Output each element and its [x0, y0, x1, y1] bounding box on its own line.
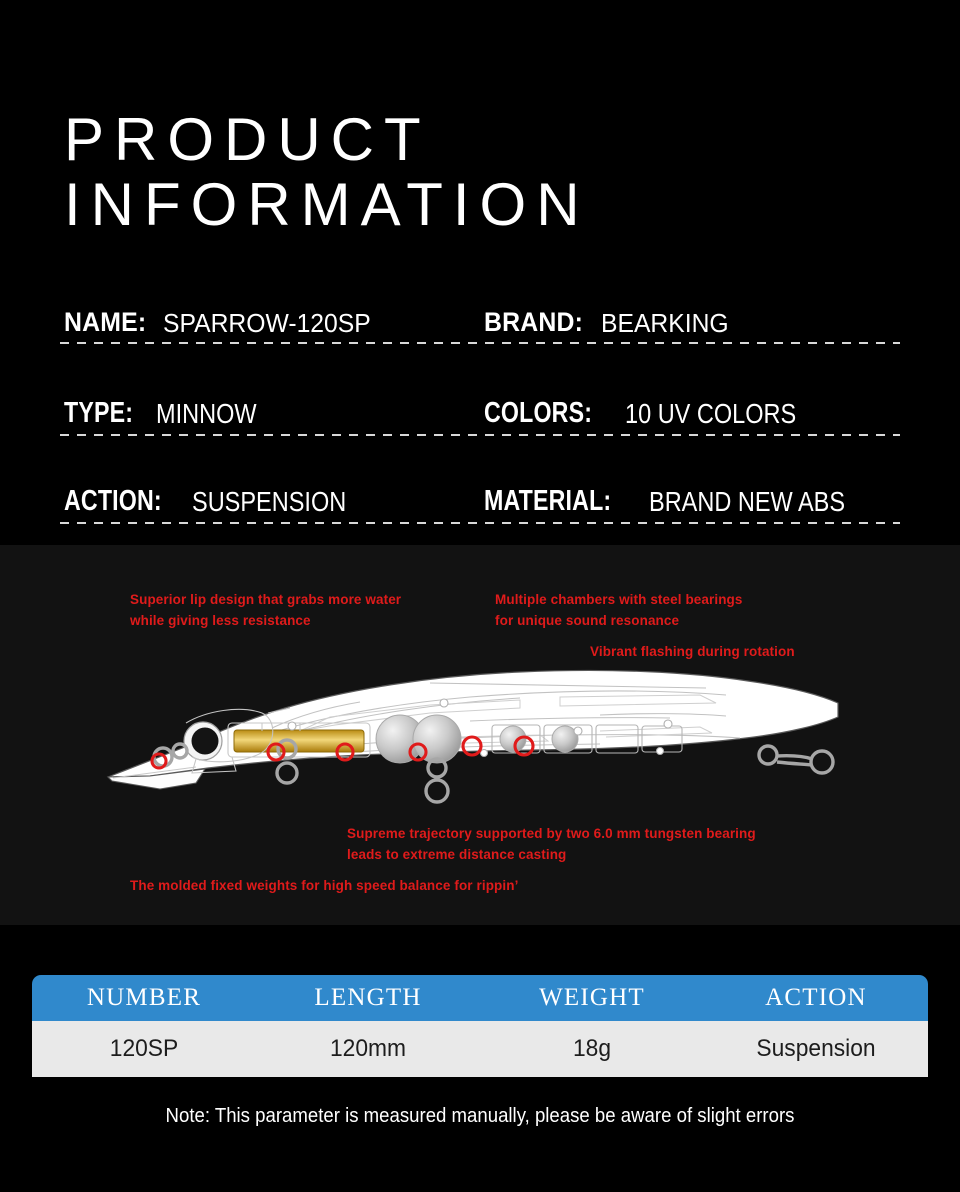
spec-label-brand: BRAND: [484, 309, 583, 336]
callout-trajectory-line-1: Supreme trajectory supported by two 6.0 … [347, 823, 756, 844]
spec-field-colors: COLORS: 10 UV COLORS [484, 382, 829, 428]
callout-trajectory: Supreme trajectory supported by two 6.0 … [347, 823, 756, 865]
callout-chambers: Multiple chambers with steel bearings fo… [495, 589, 743, 631]
callout-chambers-line-2: for unique sound resonance [495, 610, 743, 631]
table-header-row: NUMBER LENGTH WEIGHT ACTION [32, 975, 928, 1021]
spec-value-colors: 10 UV COLORS [625, 400, 796, 428]
callout-vibrant-flashing: Vibrant flashing during rotation [590, 641, 795, 662]
spec-value-brand: BEARKING [601, 310, 729, 336]
page-title-line-2: INFORMATION [64, 173, 924, 238]
spec-label-colors: COLORS: [484, 399, 592, 428]
spec-value-type: MINNOW [156, 400, 257, 428]
table-header-action: ACTION [704, 984, 928, 1012]
callout-lip-design: Superior lip design that grabs more wate… [130, 589, 401, 631]
spec-field-material: MATERIAL: BRAND NEW ABS [484, 470, 883, 516]
spec-field-name: NAME: SPARROW-120SP [64, 290, 381, 336]
table-cell-weight: 18g [486, 1035, 699, 1063]
spec-value-action: SUSPENSION [192, 488, 346, 516]
page-title-line-1: PRODUCT [64, 108, 924, 173]
page-title: PRODUCT INFORMATION [64, 108, 924, 238]
callout-lip-line-2: while giving less resistance [130, 610, 401, 631]
spec-row-name-brand: NAME: SPARROW-120SP BRAND: BEARKING [60, 290, 900, 350]
table-cell-number: 120SP [38, 1035, 251, 1063]
spec-label-name: NAME: [64, 309, 146, 336]
spec-label-action: ACTION: [64, 487, 162, 516]
spec-row-type-colors: TYPE: MINNOW COLORS: 10 UV COLORS [60, 382, 900, 442]
spec-divider-1 [60, 342, 900, 344]
lure-diagram-section: Superior lip design that grabs more wate… [0, 545, 960, 925]
parameter-table-section: NUMBER LENGTH WEIGHT ACTION 120SP 120mm … [0, 925, 960, 1192]
product-information-section: PRODUCT INFORMATION NAME: SPARROW-120SP … [0, 0, 960, 545]
table-cell-length: 120mm [262, 1035, 475, 1063]
spec-row-action-material: ACTION: SUSPENSION MATERIAL: BRAND NEW A… [60, 470, 900, 530]
spec-label-material: MATERIAL: [484, 487, 611, 516]
spec-field-action: ACTION: SUSPENSION [64, 470, 376, 516]
table-header-weight: WEIGHT [480, 984, 704, 1012]
table-note: Note: This parameter is measured manuall… [34, 1105, 927, 1128]
spec-field-brand: BRAND: BEARKING [484, 290, 735, 336]
spec-value-name: SPARROW-120SP [163, 310, 371, 336]
callout-lip-line-1: Superior lip design that grabs more wate… [130, 589, 401, 610]
callout-chambers-line-1: Multiple chambers with steel bearings [495, 589, 743, 610]
spec-divider-3 [60, 522, 900, 524]
spec-divider-2 [60, 434, 900, 436]
callout-flashing-text: Vibrant flashing during rotation [590, 641, 795, 662]
spec-label-type: TYPE: [64, 399, 133, 428]
table-header-length: LENGTH [256, 984, 480, 1012]
lure-eye [184, 722, 222, 760]
spec-field-type: TYPE: MINNOW [64, 382, 276, 428]
table-row: 120SP 120mm 18g Suspension [32, 1021, 928, 1077]
callout-weights-text: The molded fixed weights for high speed … [130, 875, 518, 896]
callout-trajectory-line-2: leads to extreme distance casting [347, 844, 756, 865]
spec-table: NUMBER LENGTH WEIGHT ACTION 120SP 120mm … [32, 975, 928, 1077]
spec-value-material: BRAND NEW ABS [649, 488, 845, 516]
callout-molded-weights: The molded fixed weights for high speed … [130, 875, 518, 896]
table-cell-action: Suspension [710, 1035, 923, 1063]
table-header-number: NUMBER [32, 984, 256, 1012]
